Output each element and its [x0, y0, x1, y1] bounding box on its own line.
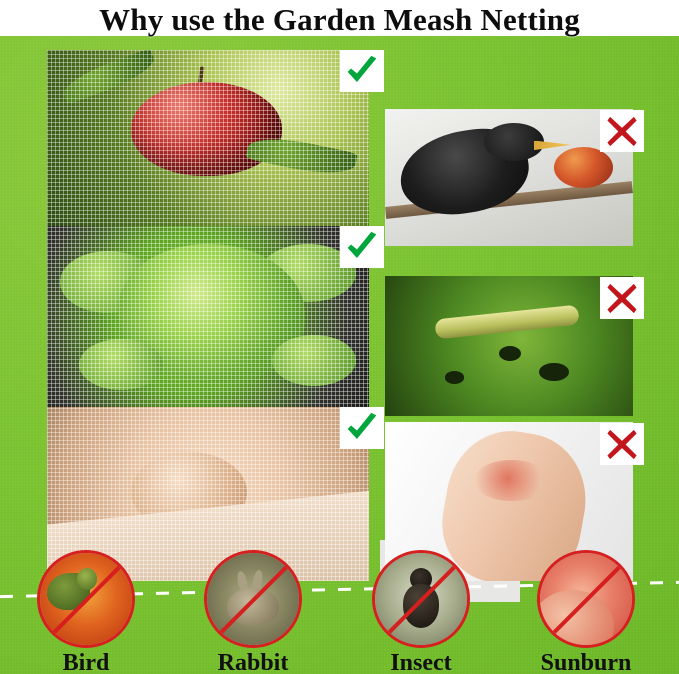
leaf-icon — [79, 339, 163, 390]
insect-body — [403, 584, 440, 628]
pest-item-bird: Bird — [20, 550, 152, 674]
leaf-hole — [539, 363, 569, 381]
bird-head — [77, 568, 97, 590]
cross-badge-rash — [600, 423, 644, 465]
leaf-hole — [445, 371, 465, 384]
photo-grid — [0, 36, 679, 556]
photo-apple-with-mesh — [47, 50, 369, 227]
pest-row: Bird Rabbit Insect — [0, 540, 679, 674]
cross-badge-bird — [600, 110, 644, 152]
cross-badge-caterpillar — [600, 277, 644, 319]
caterpillar-icon — [434, 305, 579, 340]
page-title: Why use the Garden Meash Netting — [99, 2, 580, 38]
rash-icon — [474, 460, 548, 501]
apple-scene — [47, 50, 369, 227]
lettuce-scene — [47, 226, 369, 408]
sunburn-icon — [537, 550, 635, 648]
check-icon — [345, 412, 379, 444]
caterpillar-scene — [385, 276, 633, 416]
check-badge-lettuce — [340, 226, 384, 268]
leaf-icon — [59, 50, 158, 105]
photo-caterpillar-on-leaf — [385, 276, 633, 416]
check-icon — [345, 55, 379, 87]
check-badge-baby — [340, 407, 384, 449]
leaf-icon — [272, 335, 356, 386]
title-bar: Why use the Garden Meash Netting — [0, 0, 679, 40]
pest-label-sunburn: Sunburn — [520, 650, 652, 674]
photo-bird-eating-apple — [385, 109, 633, 246]
apple-icon — [131, 82, 282, 176]
leaf-hole — [499, 346, 521, 361]
rabbit-icon — [204, 550, 302, 648]
check-badge-apple — [340, 50, 384, 92]
photo-lettuce-with-mesh — [47, 226, 369, 408]
insect-icon — [372, 550, 470, 648]
bird-scene — [385, 109, 633, 246]
cross-icon — [606, 116, 638, 147]
pest-label-rabbit: Rabbit — [187, 650, 319, 674]
check-icon — [345, 231, 379, 263]
bird-icon — [37, 550, 135, 648]
pest-label-insect: Insect — [355, 650, 487, 674]
beak-icon — [534, 141, 571, 151]
pest-item-sunburn: Sunburn — [520, 550, 652, 674]
cross-icon — [606, 283, 638, 314]
poster: Why use the Garden Meash Netting — [0, 0, 679, 674]
cross-icon — [606, 429, 638, 460]
pest-label-bird: Bird — [20, 650, 152, 674]
shoulder — [537, 590, 614, 648]
pest-item-rabbit: Rabbit — [187, 550, 319, 674]
pest-item-insect: Insect — [355, 550, 487, 674]
apple-icon — [554, 147, 614, 188]
